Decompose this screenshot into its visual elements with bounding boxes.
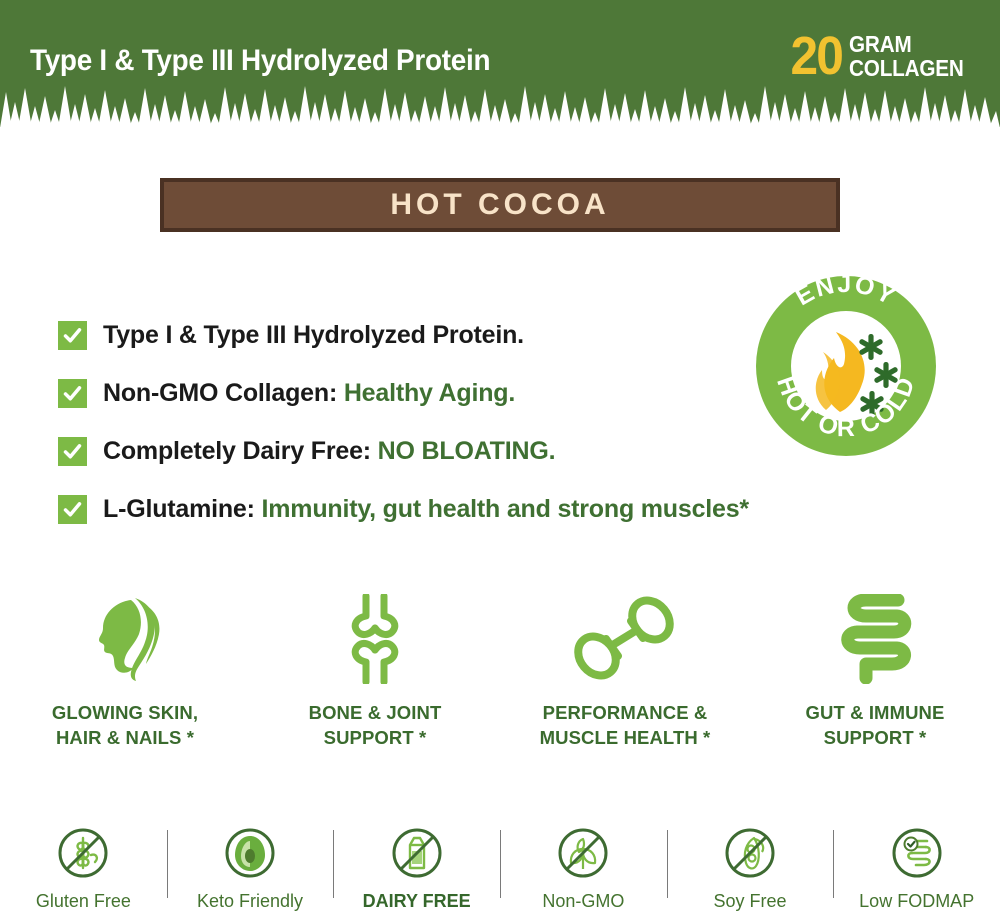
list-item-label: Completely Dairy Free: NO BLOATING. [103,437,555,466]
intestine-icon [836,592,914,684]
feature-checklist: Type I & Type III Hydrolyzed Protein. No… [58,306,738,538]
benefit-label: GUT & IMMUNE SUPPORT * [806,700,945,750]
list-item: Type I & Type III Hydrolyzed Protein. [58,306,738,364]
enjoy-hot-or-cold-badge-icon: ENJOY HOT OR COLD [752,272,940,460]
cert-label: Gluten Free [36,891,131,912]
grass-fringe-icon [0,86,1000,158]
gram-number: 20 [791,31,843,81]
list-item-label: L-Glutamine: Immunity, gut health and st… [103,495,749,524]
checkbox-checked-icon [58,321,87,350]
cert-item-gluten-free: Gluten Free [0,822,167,912]
list-item-label: Non-GMO Collagen: Healthy Aging. [103,379,515,408]
list-item: Completely Dairy Free: NO BLOATING. [58,422,738,480]
collagen-amount-block: 20 GRAM COLLAGEN [786,31,976,81]
cert-item-keto-friendly: Keto Friendly [167,822,334,912]
list-item: L-Glutamine: Immunity, gut health and st… [58,480,738,538]
dumbbell-icon [573,592,677,684]
list-item: Non-GMO Collagen: Healthy Aging. [58,364,738,422]
cert-item-dairy-free: DAIRY FREE [333,822,500,912]
cert-item-soy-free: Soy Free [667,822,834,912]
page-title: Type I & Type III Hydrolyzed Protein [30,44,490,78]
benefit-label: BONE & JOINT SUPPORT * [309,700,442,750]
cert-label: DAIRY FREE [363,891,471,912]
benefit-item-bone-joint: BONE & JOINT SUPPORT * [250,592,500,750]
certification-badges-row: Gluten Free Keto Friendly D [0,822,1000,912]
no-leaf-icon [555,822,611,884]
list-item-label: Type I & Type III Hydrolyzed Protein. [103,321,524,350]
gram-word-line2: COLLAGEN [849,56,964,80]
gram-words: GRAM COLLAGEN [849,32,964,80]
cert-label: Non-GMO [542,891,624,912]
no-milk-carton-icon [389,822,445,884]
avocado-icon [222,822,278,884]
checkbox-checked-icon [58,437,87,466]
cert-label: Keto Friendly [197,891,303,912]
benefit-item-glowing-skin: GLOWING SKIN, HAIR & NAILS * [0,592,250,750]
header-banner: Type I & Type III Hydrolyzed Protein 20 … [0,0,1000,158]
benefit-item-gut-immune: GUT & IMMUNE SUPPORT * [750,592,1000,750]
flavor-label: HOT COCOA [390,188,609,222]
woman-face-hair-icon [85,592,165,684]
benefit-label: GLOWING SKIN, HAIR & NAILS * [52,700,198,750]
no-soybean-icon [722,822,778,884]
cert-item-non-gmo: Non-GMO [500,822,667,912]
flavor-banner: HOT COCOA [160,178,840,232]
cert-label: Low FODMAP [859,891,974,912]
cert-item-low-fodmap: Low FODMAP [833,822,1000,912]
bone-joint-icon [344,592,406,684]
cert-label: Soy Free [714,891,787,912]
checkbox-checked-icon [58,379,87,408]
gram-word-line1: GRAM [849,32,964,56]
low-fodmap-gut-icon [889,822,945,884]
benefit-icons-row: GLOWING SKIN, HAIR & NAILS * BONE & JOIN… [0,592,1000,750]
no-wheat-icon [55,822,111,884]
benefit-label: PERFORMANCE & MUSCLE HEALTH * [540,700,711,750]
benefit-item-performance: PERFORMANCE & MUSCLE HEALTH * [500,592,750,750]
checkbox-checked-icon [58,495,87,524]
